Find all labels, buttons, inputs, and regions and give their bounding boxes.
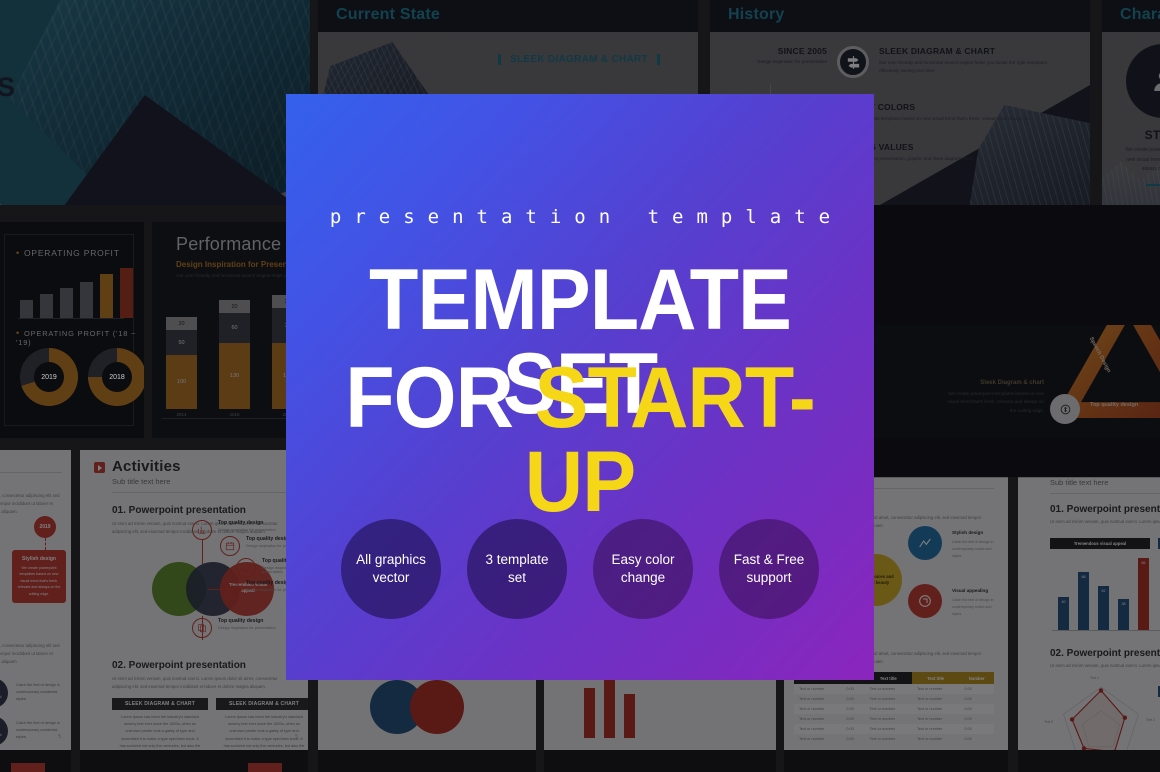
promo-overlay-card: presentation template TEMPLATE SET FOR S… — [286, 94, 874, 680]
section-1-body: Ut enim ad minim veniam, quis nostrud ex… — [1050, 518, 1160, 526]
table-cell: 0.00 — [841, 724, 864, 734]
bar-label: 2015 — [219, 412, 250, 417]
play-icon — [1032, 464, 1043, 475]
caption-body: We create powerpoint templates based on … — [944, 390, 1044, 415]
table-cell: Text or number — [794, 694, 841, 704]
bar — [100, 274, 113, 318]
bar — [60, 288, 73, 318]
page-number: 5 — [295, 734, 298, 740]
bar-value: 38 — [1118, 602, 1129, 606]
slide-title: Sales & Performance — [1050, 459, 1160, 476]
play-icon — [94, 462, 105, 473]
table-cell: Text or number — [865, 684, 912, 694]
bar — [20, 300, 33, 318]
slide-header-bar: Charac — [1102, 0, 1160, 32]
bullet-icon: • — [16, 328, 20, 338]
table-cell: 0.00 — [959, 724, 994, 734]
badge-label: Fast & Free support — [727, 551, 811, 587]
section-2-body: Ut enim ad minim veniam, quis nostrud ex… — [112, 675, 294, 691]
slide-subtitle: Design Inspiration for Presentation — [880, 260, 1013, 269]
feature-badge-easy-color-change[interactable]: Easy color change — [593, 519, 693, 619]
feature-desc: Design inspiration for presentation — [218, 528, 276, 532]
table-row: Text or number 0.00 Text or number Text … — [794, 714, 994, 724]
footer-accent — [11, 763, 45, 772]
item-1-desc: Catch the feel of design in contemporary… — [952, 539, 1000, 559]
headline-prefix: FOR — [345, 350, 534, 446]
business-data-table: Text title Text title Text title Number … — [794, 672, 994, 744]
person-icon — [1126, 44, 1160, 118]
table-cell: 0.00 — [959, 734, 994, 744]
slide-header-bar: History — [710, 0, 1090, 32]
table-row: Text or number 0.00 Text or number Text … — [794, 734, 994, 744]
slide-title: Activities — [112, 458, 181, 475]
table-cell: 0.00 — [841, 704, 864, 714]
bar: 68 — [1078, 572, 1089, 630]
slide-content: STYLISH We create powerpoint templates b… — [1102, 32, 1160, 205]
badge-label: 3 template set — [475, 551, 559, 587]
slide-title: Detailed Plans _ Core Technolog — [880, 234, 1160, 255]
bar-segment-mid: 50 — [166, 330, 197, 355]
chart-tag-1: Tremendous visual appeal — [1050, 538, 1150, 549]
slide-subtitle: Sub title text here — [112, 477, 170, 486]
slide-detailed-plans[interactable]: Detailed Plans _ Core Technolog Design I… — [854, 222, 1160, 438]
stacked-bar: 20 50 100 2014 — [166, 317, 197, 417]
chart-icon — [192, 520, 212, 540]
table-body: Text or number 0.00 Text or number Text … — [794, 684, 994, 744]
table-header-cell: Text title — [912, 672, 959, 684]
table-cell: Text or number — [865, 704, 912, 714]
bar: 40 — [1058, 597, 1069, 630]
bar — [120, 268, 133, 318]
slide-footer — [544, 750, 776, 772]
table-cell: 0.00 — [959, 694, 994, 704]
table-cell: Text or number — [794, 714, 841, 724]
page-number: 5 — [58, 734, 61, 740]
table-cell: Text or number — [865, 694, 912, 704]
screenshot-canvas: ESS PLANS UB TITLE Lorem ipsum dolor sit… — [0, 0, 1160, 772]
venn-circle-red — [410, 680, 464, 734]
bar-value: 52 — [1098, 589, 1109, 593]
slide-footer — [318, 750, 536, 772]
slide-sales-performance[interactable]: Sales & Performance Sub title text here … — [1018, 450, 1160, 772]
feature-item: Top quality design Design inspiration fo… — [192, 618, 276, 638]
history-item-meta: SINCE 2005 Design inspiration for presen… — [722, 46, 827, 66]
year-pill: 2019 — [34, 516, 56, 538]
table-cell: Text or number — [794, 704, 841, 714]
sales-bar-chart: 40 68 52 38 86 — [1058, 558, 1149, 630]
headline-highlight: START-UP — [525, 350, 815, 530]
bar-segment-top: 20 — [219, 300, 250, 313]
money-icon — [1050, 394, 1080, 424]
bar — [40, 294, 53, 318]
section-2-heading: 02. Powerpoint presentation — [112, 660, 246, 671]
signpost-icon — [837, 46, 869, 78]
table-row: Text or number 0.00 Text or number Text … — [794, 694, 994, 704]
table-cell: 0.00 — [959, 684, 994, 694]
bar-segment-base: 130 — [219, 343, 250, 409]
stylish-design-card: Stylish design We create powerpoint temp… — [12, 550, 66, 603]
table-cell: Text or number — [912, 734, 959, 744]
table-cell: 0.00 — [959, 714, 994, 724]
slide-heading: STYLISH — [1116, 128, 1160, 142]
feature-title: Top quality design — [218, 618, 276, 624]
bar — [584, 688, 595, 738]
business-icon-blue — [908, 526, 942, 560]
badge-label: Easy color change — [601, 551, 685, 587]
bar-segment-top: 20 — [166, 317, 197, 330]
bar — [604, 676, 615, 738]
table-header-cell: Number — [959, 672, 994, 684]
table-cell: Text or number — [794, 724, 841, 734]
feature-desc: Design inspiration for presentation — [218, 626, 276, 630]
printer-icon — [220, 580, 240, 600]
connector-line — [202, 540, 203, 564]
slide-title: Charac — [1120, 6, 1160, 24]
history-item-desc: Our user-friendly and functional search … — [879, 59, 1069, 76]
item-1-title: Stylish design — [952, 530, 983, 535]
slide-desc: We create powerpoint templates based on … — [1122, 146, 1160, 175]
design-badge-04: 04 DESIGN — [0, 716, 8, 746]
bar-segment-mid: 60 — [219, 313, 250, 343]
table-cell: Text or number — [912, 724, 959, 734]
bar-segment-base: 100 — [166, 355, 197, 409]
operating-profit-label: •OPERATING PROFIT — [16, 248, 120, 258]
radar-label: Text 2 — [1146, 718, 1155, 722]
feature-badge-all-graphics-vector[interactable]: All graphics vector — [341, 519, 441, 619]
since-label: SINCE 2005 — [722, 46, 827, 56]
business-icon-red — [908, 584, 942, 618]
feature-badge-fast-free-support[interactable]: Fast & Free support — [719, 519, 819, 619]
calendar-icon — [220, 536, 240, 556]
section-2-body: Ut enim ad minim veniam, quis nostrud ex… — [1050, 662, 1160, 670]
axis-line — [18, 318, 124, 319]
card-header: SLEEK DIAGRAM & CHART — [216, 698, 308, 710]
card-body: We create powerpoint templates based on … — [17, 565, 61, 597]
card-header: SLEEK DIAGRAM & CHART — [112, 698, 208, 710]
radar-label: Text 5 — [1044, 720, 1053, 724]
dashed-connector — [45, 538, 46, 550]
slide-footer — [1018, 750, 1160, 772]
triangle-diagram: Speech Design Design Inspiration Top qua… — [1054, 286, 1160, 418]
design-badge-03: 03 DESIGN — [0, 678, 8, 708]
table-row: Text or number 0.00 Text or number Text … — [794, 704, 994, 714]
operating-profit-period-label: •OPERATING PROFIT ('18 ~ '19) — [16, 328, 144, 347]
presentation-icon — [236, 558, 256, 578]
table-cell: 0.00 — [841, 694, 864, 704]
award-icon — [1114, 274, 1144, 304]
table-cell: 0.00 — [841, 684, 864, 694]
slide-body-2: dolor sit amet, consectetur adipiscing e… — [0, 642, 60, 666]
feature-text: Top quality design Design inspiration fo… — [218, 618, 276, 630]
slide-body: Lorem ipsum dolor sit amet consectetur a… — [0, 133, 8, 150]
slide-title: History — [728, 6, 785, 24]
radar-label: Text 1 — [1090, 676, 1099, 680]
slide-characteristics[interactable]: Charac STYLISH We create powerpoint temp… — [1102, 0, 1160, 205]
slide-title: ESS PLANS — [0, 72, 198, 103]
history-item-text: SLEEK DIAGRAM & CHART Our user-friendly … — [879, 46, 1069, 76]
design-badge-03-text: Catch the feel of design in contemporary… — [16, 682, 64, 703]
history-item-title: SLEEK DIAGRAM & CHART — [879, 46, 1069, 56]
item-2-desc: Catch the feel of design in contemporary… — [952, 597, 1000, 617]
table-cell: 0.00 — [841, 714, 864, 724]
table-cell: Text or number — [865, 714, 912, 724]
bar-value: 40 — [1058, 600, 1069, 604]
card-title: Stylish design — [17, 556, 61, 562]
table-cell: Text or number — [912, 694, 959, 704]
table-cell: Text or number — [865, 734, 912, 744]
axis-line — [1052, 630, 1160, 631]
section-2-heading: 02. Powerpoint presentation — [1050, 648, 1160, 659]
bar — [80, 282, 93, 318]
bar: 86 — [1138, 558, 1149, 630]
slide-business-plans[interactable]: ESS PLANS UB TITLE Lorem ipsum dolor sit… — [0, 0, 310, 205]
bar-label: 2014 — [166, 412, 197, 417]
bar: 52 — [1098, 586, 1109, 630]
donut-chart-2019: 2019 — [20, 348, 78, 406]
slide-operating-profit[interactable]: •OPERATING PROFIT •OPERATING PROFIT ('18… — [0, 222, 144, 438]
slide-body: dolor sit amet, consectetur adipiscing e… — [0, 492, 60, 516]
divider — [1050, 493, 1160, 494]
bar — [624, 694, 635, 738]
slide-header-bar: Current State — [318, 0, 698, 32]
slide-activities[interactable]: Activities Sub title text here 01. Power… — [80, 450, 308, 772]
badge-sublabel: DESIGN — [0, 695, 2, 699]
donut-chart-2018: 2018 — [88, 348, 144, 406]
bar: 38 — [1118, 599, 1129, 630]
item-2-title: Visual appealing — [952, 588, 988, 593]
overlay-headline-line-2: FOR START-UP — [304, 356, 857, 525]
since-sublabel: Design inspiration for presentation — [722, 58, 827, 66]
table-cell: 0.00 — [841, 734, 864, 744]
feature-badge-row: All graphics vector 3 template set Easy … — [286, 519, 874, 619]
divider — [0, 472, 62, 473]
section-1-heading: 01. Powerpoint presentation — [1050, 504, 1160, 515]
design-badge-04-text: Catch the feel of design in contemporary… — [16, 720, 64, 741]
slide-subtitle: Sub title text here — [1050, 478, 1108, 487]
table-row: Text or number 0.00 Text or number Text … — [794, 724, 994, 734]
feature-badge-3-template-set[interactable]: 3 template set — [467, 519, 567, 619]
table-cell: Text or number — [865, 724, 912, 734]
bar-value: 68 — [1078, 575, 1089, 579]
slide-tag-label: SLEEK DIAGRAM & CHART — [498, 54, 660, 65]
table-cell: Text or number — [912, 684, 959, 694]
bar-value: 86 — [1138, 561, 1149, 565]
history-item: SINCE 2005 Design inspiration for presen… — [722, 46, 1069, 78]
slide-footer — [784, 750, 1008, 772]
venn-diagram — [370, 680, 480, 734]
bullet-icon: • — [16, 248, 20, 258]
copy-icon — [192, 618, 212, 638]
slide-design-badges[interactable]: dolor sit amet, consectetur adipiscing e… — [0, 450, 71, 772]
badge-sublabel: DESIGN — [0, 733, 2, 737]
triangle-label-bottom: Top quality design — [1090, 402, 1138, 408]
table-cell: Text or number — [912, 704, 959, 714]
badge-label: All graphics vector — [349, 551, 433, 587]
divider — [112, 492, 294, 493]
section-1-heading: 01. Powerpoint presentation — [112, 505, 246, 516]
table-cell: Text or number — [794, 734, 841, 744]
divider — [1146, 184, 1160, 186]
caption-title: Sleek Diagram & chart — [944, 378, 1044, 389]
stacked-bar: 20 60 130 2015 — [219, 300, 250, 417]
table-cell: 0.00 — [959, 704, 994, 714]
feature-title: Top quality design — [218, 520, 276, 526]
footer-accent — [248, 763, 282, 772]
table-cell: Text or number — [912, 714, 959, 724]
feature-text: Top quality design Design inspiration fo… — [218, 520, 276, 532]
slide-title: Current State — [336, 6, 440, 24]
operating-profit-bar-chart — [20, 266, 133, 318]
overlay-eyebrow: presentation template — [286, 206, 874, 228]
table-cell: Text or number — [794, 684, 841, 694]
table-row: Text or number 0.00 Text or number Text … — [794, 684, 994, 694]
